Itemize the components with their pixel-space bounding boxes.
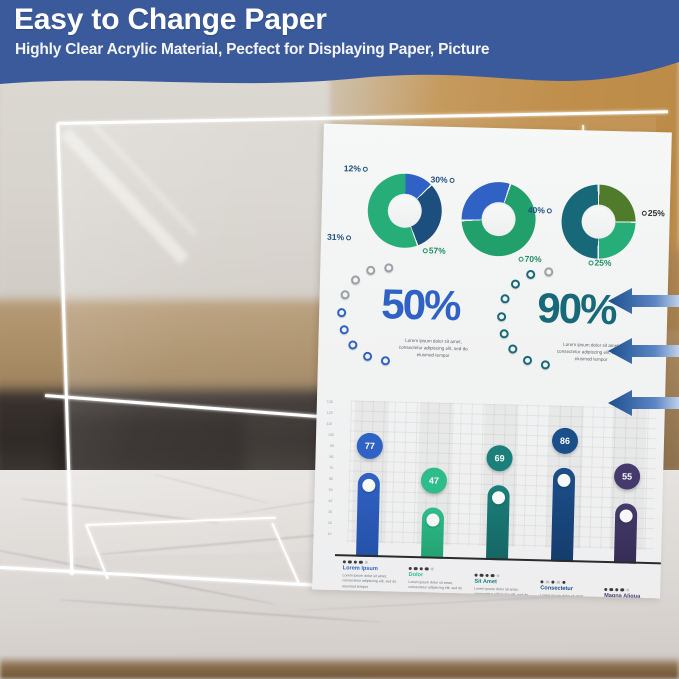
legend-item-dolor: Dolor Lorem ipsum dolor sit amet, consec… (408, 567, 471, 598)
donut-chart-group: 12% 31% 57% 30% 70% (321, 148, 672, 267)
acrylic-sign-holder: 12% 31% 57% 30% 70% (0, 0, 679, 679)
legend-item-lorem-ipsum: Lorem Ipsum Lorem ipsum dolor sit amet, … (342, 560, 405, 591)
donut-3-label-40: 40% (528, 205, 553, 216)
legend-item-sit-amet: Sit Amet Lorem ipsum dolor sit amet, con… (474, 574, 537, 599)
bar-chart: 130 120 110 100 90 80 70 60 50 40 30 20 … (321, 396, 665, 565)
donut-2-label-30: 30% (430, 174, 455, 185)
banner-title: Easy to Change Paper (14, 3, 327, 38)
pointer-arrow-3 (608, 390, 679, 416)
rating-dots-2 (409, 567, 471, 572)
bar-dolor (421, 507, 444, 559)
percent-value-90: 90% (537, 287, 616, 331)
ring-dot-50-6 (340, 325, 349, 334)
legend-title-4: Consectetur (540, 586, 602, 594)
bar-consectetur (551, 468, 575, 563)
ring-dot-50-7 (348, 340, 357, 349)
bar-knob-4 (557, 474, 570, 487)
legend-item-consectetur: Consectetur Lorem ipsum dolor sit amet, … (540, 580, 603, 598)
ring-dot-90-8 (523, 356, 532, 365)
ring-dot-50-9 (381, 356, 390, 365)
percent-value-50: 50% (381, 283, 460, 327)
donut-2-label-70: 70% (516, 254, 541, 265)
ring-dot-50-5 (337, 308, 346, 317)
ring-dot-50-8 (363, 352, 372, 361)
ring-dot-90-6 (500, 329, 509, 338)
legend-item-magna-aliqua: Magna Aliqua Lorem ipsum dolor sit amet,… (604, 588, 667, 598)
bar-chart-legend: Lorem Ipsum Lorem ipsum dolor sit amet, … (322, 560, 663, 599)
rating-dots-1 (343, 560, 405, 565)
rating-dots-4 (540, 580, 602, 585)
legend-text-3: Lorem ipsum dolor sit amet, consectetur … (474, 587, 536, 599)
legend-title-2: Dolor (408, 572, 470, 580)
bar-knob-5 (619, 509, 632, 522)
marketing-banner: Easy to Change Paper Highly Clear Acryli… (0, 0, 679, 96)
donut-3-label-25-a: 25% (640, 208, 665, 219)
legend-text-4: Lorem ipsum dolor sit amet, consectetur … (540, 593, 602, 598)
donut-chart-3 (561, 184, 637, 260)
percent-caption-50: Lorem ipsum dolor sit amet, consectetur … (396, 338, 470, 361)
donut-1-label-31: 31% (327, 232, 352, 243)
bar-magna-aliqua (614, 503, 638, 564)
ring-dot-90-7 (508, 344, 517, 353)
pointer-arrow-1 (608, 288, 679, 314)
ring-dot-90-3 (511, 279, 520, 288)
legend-title-5: Magna Aliqua (604, 593, 666, 598)
legend-title-3: Sit Amet (474, 579, 536, 587)
pointer-arrow-2 (608, 338, 679, 364)
bar-knob-1 (362, 479, 375, 492)
legend-title-1: Lorem Ipsum (343, 566, 405, 574)
rating-dots-5 (604, 588, 666, 593)
legend-text-1: Lorem ipsum dolor sit amet, consectetur … (342, 573, 404, 591)
banner-subtitle: Highly Clear Acrylic Material, Pecfect f… (15, 41, 489, 59)
donut-1-label-57: 57% (421, 245, 446, 256)
percent-block-50: 50% Lorem ipsum dolor sit amet, consecte… (324, 260, 495, 382)
percent-block-90: 90% Lorem ipsum dolor sit amet, consecte… (483, 264, 654, 386)
acrylic-edge-base-front (0, 566, 352, 589)
ring-dot-50-1 (384, 263, 393, 272)
ring-dot-90-1 (544, 267, 553, 276)
donut-1-label-12: 12% (344, 163, 369, 174)
ring-dot-90-2 (526, 270, 535, 279)
legend-text-2: Lorem ipsum dolor sit amet, consectetur … (408, 580, 470, 598)
ring-dot-90-9 (541, 360, 550, 369)
ring-dot-50-2 (366, 266, 375, 275)
rating-dots-3 (475, 574, 537, 579)
ring-dot-50-4 (341, 290, 350, 299)
bar-knob-3 (492, 491, 505, 504)
bar-sit-amet (486, 485, 510, 561)
bar-knob-2 (426, 513, 439, 526)
ring-dot-90-4 (500, 294, 509, 303)
product-image-scene: 12% 31% 57% 30% 70% (0, 0, 679, 679)
ring-dot-50-3 (351, 275, 360, 284)
donut-chart-2 (461, 181, 537, 257)
bar-lorem-ipsum (356, 473, 380, 558)
ring-dot-90-5 (497, 312, 506, 321)
